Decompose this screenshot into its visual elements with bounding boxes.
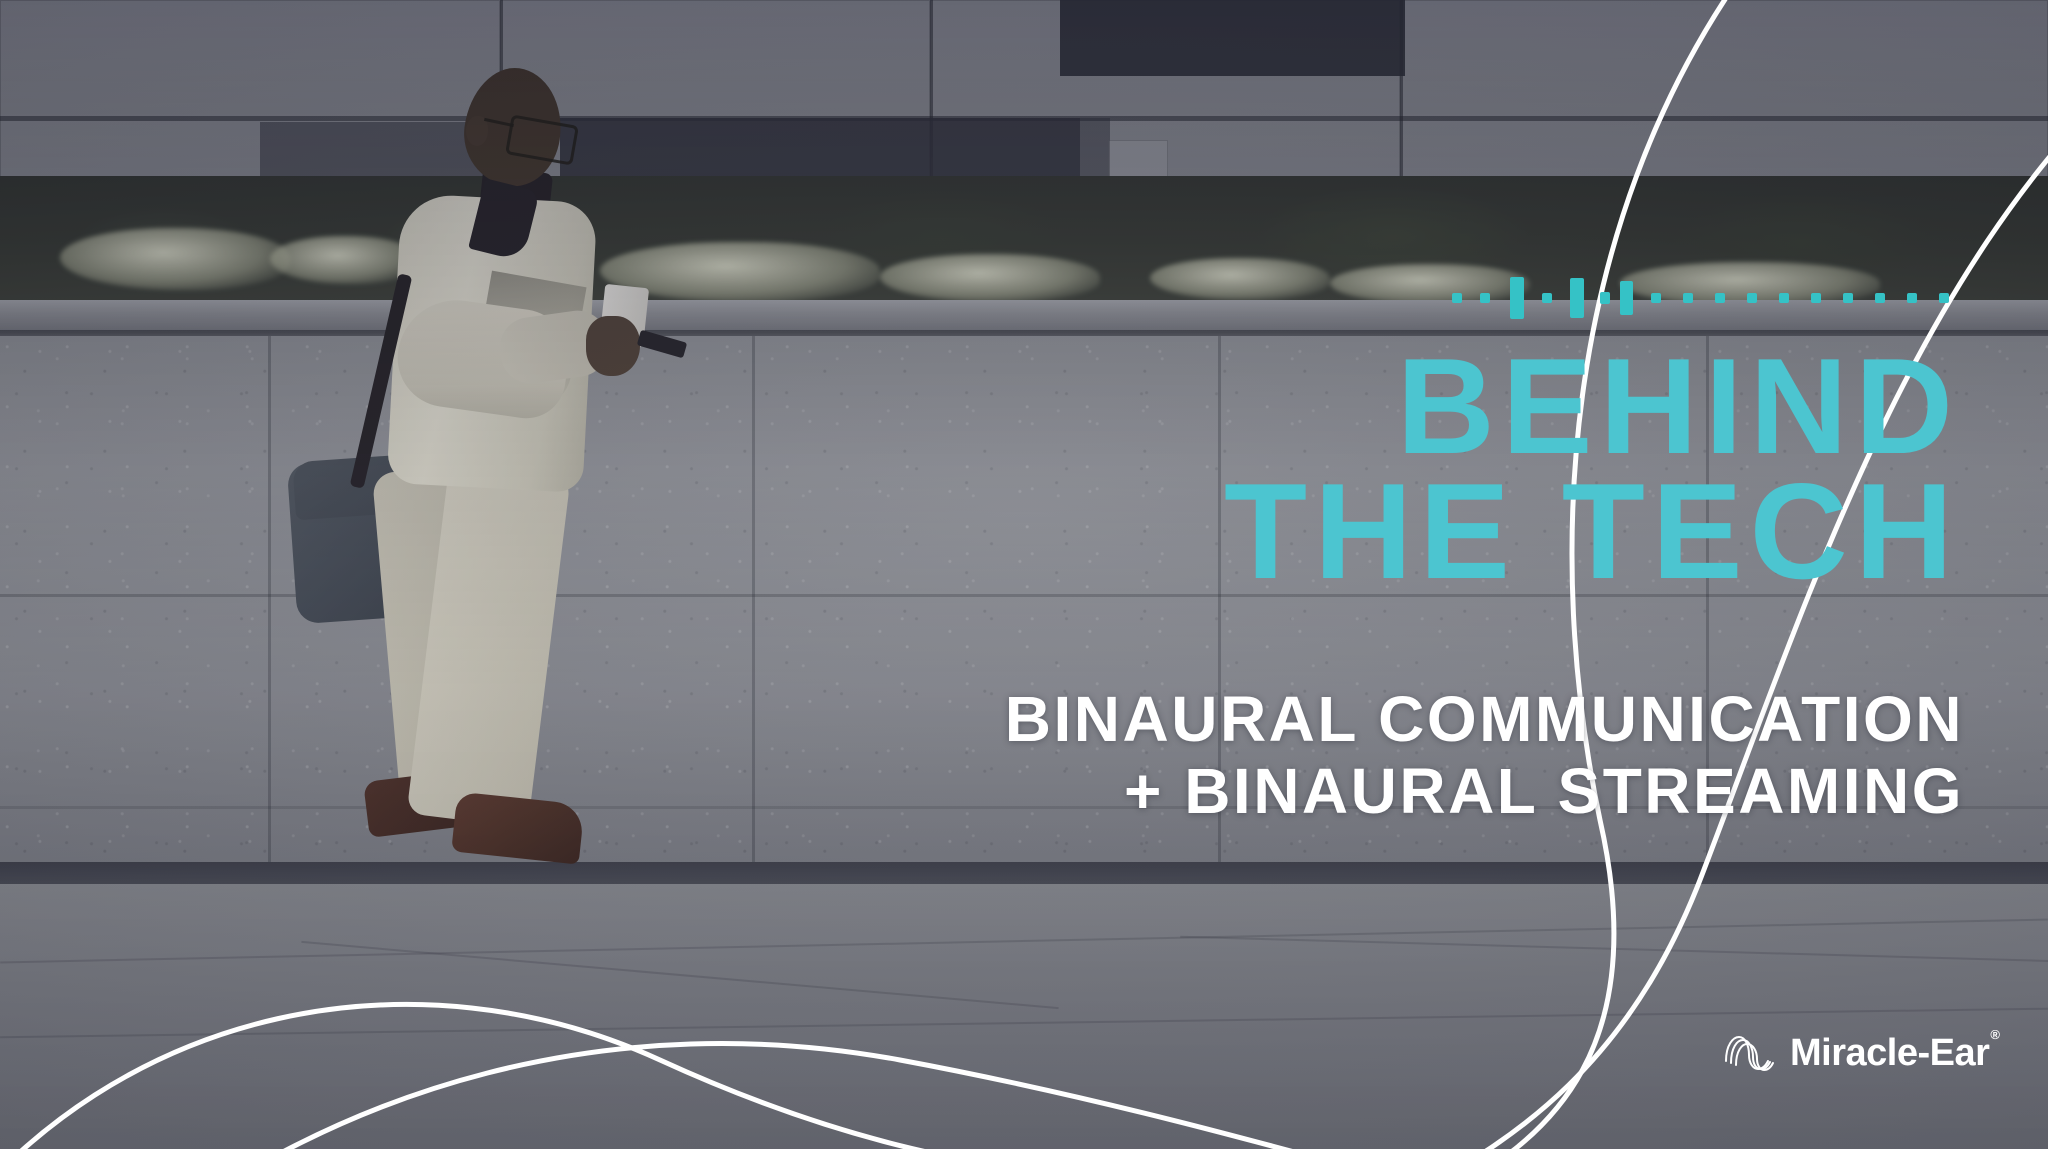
registered-trademark-icon: ®: [1990, 1027, 1999, 1042]
title-block: BEHIND THE TECH: [0, 344, 1960, 594]
soundwave-bar: [1779, 293, 1789, 303]
soundwave-bar: [1939, 293, 1949, 303]
soundwave-bar: [1843, 293, 1853, 303]
soundwave-bar: [1811, 293, 1821, 303]
soundwave-bar: [1715, 293, 1725, 303]
soundwave-bar: [1570, 278, 1584, 318]
soundwave-bar: [1542, 293, 1552, 303]
sound-wave-mark-icon: [1723, 1031, 1779, 1075]
title-line-1: BEHIND: [0, 344, 1960, 469]
title-line-2: THE TECH: [0, 469, 1960, 594]
soundwave-bar: [1620, 281, 1633, 315]
logo-name: Miracle-Ear: [1790, 1032, 1989, 1074]
subtitle-block: BINAURAL COMMUNICATION + BINAURAL STREAM…: [0, 684, 1964, 827]
brand-logo: Miracle-Ear®: [1723, 1031, 1998, 1075]
subtitle-line-2: + BINAURAL STREAMING: [0, 756, 1964, 828]
subtitle-line-1: BINAURAL COMMUNICATION: [0, 684, 1964, 756]
soundwave-dot-pattern: [1452, 276, 1949, 320]
soundwave-bar: [1600, 292, 1610, 304]
soundwave-bar: [1683, 293, 1693, 303]
slide-canvas: BEHIND THE TECH BINAURAL COMMUNICATION +…: [0, 0, 2048, 1149]
logo-wordmark: Miracle-Ear®: [1790, 1032, 1998, 1075]
soundwave-bar: [1907, 293, 1917, 303]
soundwave-bar: [1875, 293, 1885, 303]
soundwave-bar: [1510, 277, 1524, 319]
soundwave-bar: [1480, 293, 1490, 303]
soundwave-bar: [1747, 293, 1757, 303]
soundwave-bar: [1651, 293, 1661, 303]
soundwave-bar: [1452, 293, 1462, 303]
